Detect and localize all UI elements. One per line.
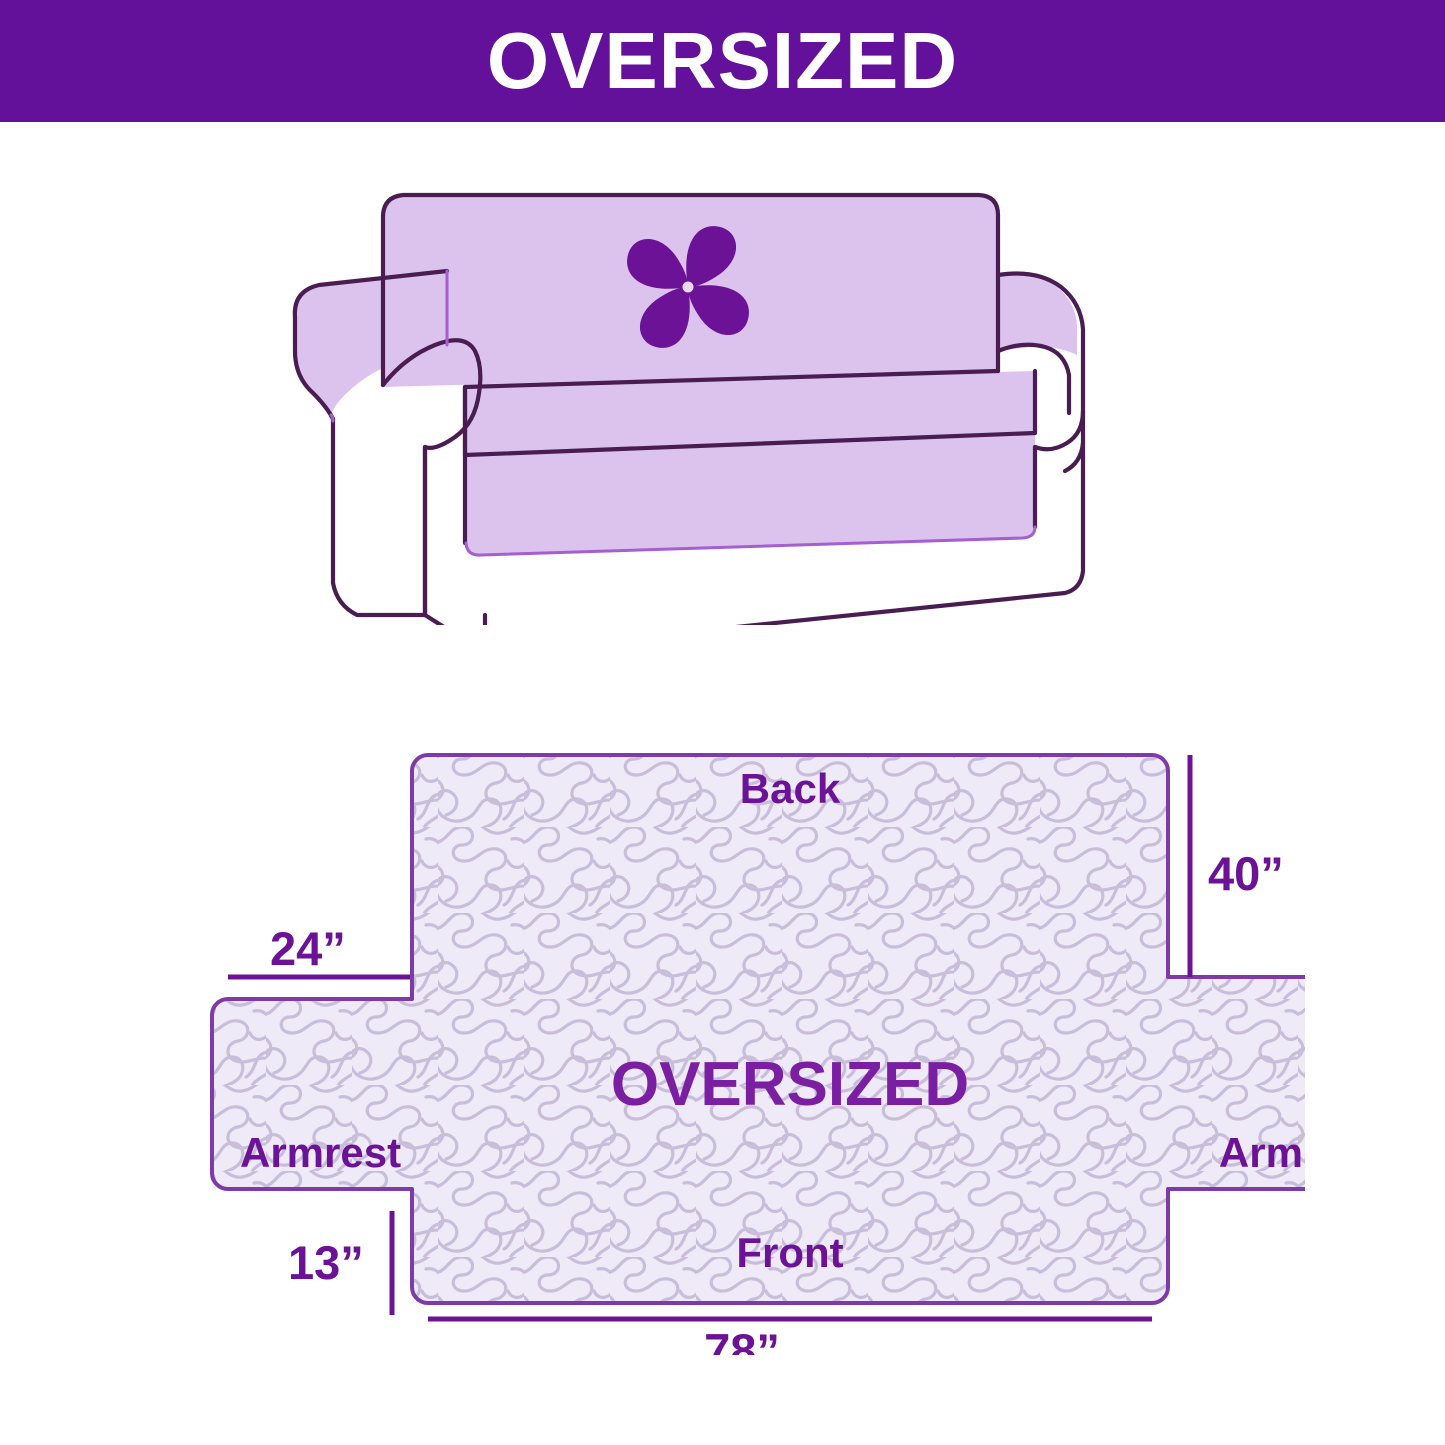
panel-label-back: Back: [740, 765, 841, 812]
header-banner: OVERSIZED: [0, 0, 1445, 122]
panel-label-front: Front: [736, 1229, 843, 1276]
cover-cross-shape: [212, 755, 1305, 1303]
dimension-label-front-width: 78”: [704, 1324, 780, 1355]
dimension-label-front-offset: 13”: [288, 1236, 364, 1289]
dimension-label-back-height: 40”: [1208, 847, 1284, 900]
page-title: OVERSIZED: [487, 21, 958, 101]
sofa-illustration: [275, 175, 1185, 625]
sofa-left-arm-top: [297, 273, 445, 415]
panel-label-armrest-left: Armrest: [240, 1129, 401, 1176]
center-size-label: OVERSIZED: [611, 1050, 969, 1119]
panel-label-armrest-right: Armrest: [1219, 1129, 1305, 1176]
flat-layout-diagram: 40” 24” 23” 13” 78” Back Front Armrest A…: [180, 655, 1305, 1355]
dimension-label-back-offset: 24”: [270, 922, 346, 975]
sofa-right-arm-top: [997, 274, 1077, 355]
